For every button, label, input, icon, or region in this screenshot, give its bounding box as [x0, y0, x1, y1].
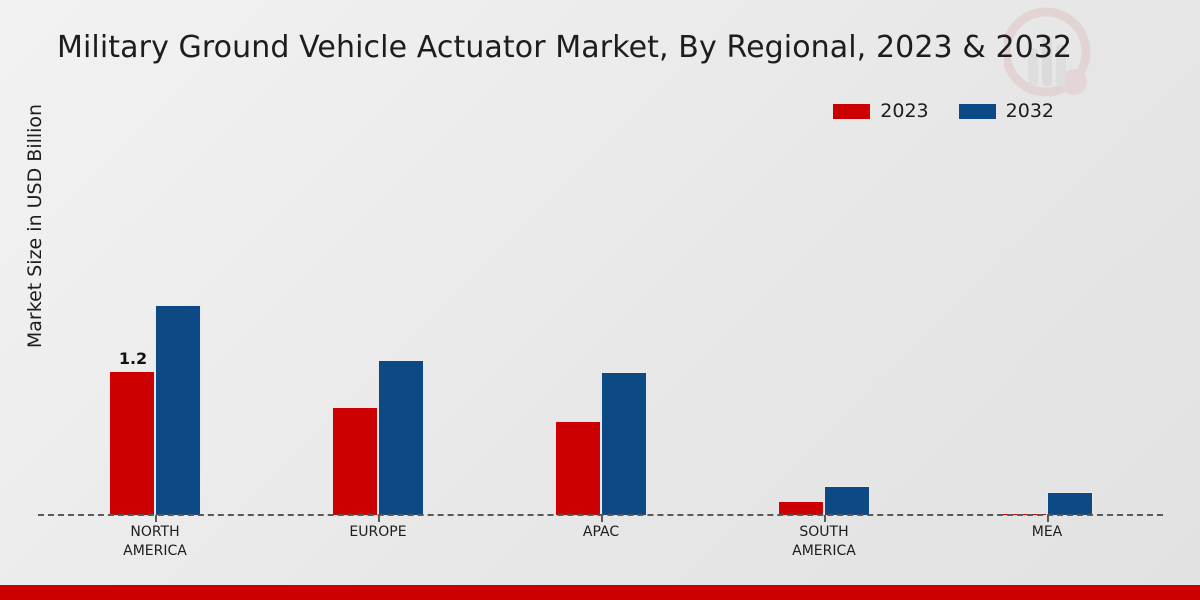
x-tick-apac: [601, 515, 603, 522]
x-label-north-america-line1: NORTH: [55, 523, 255, 542]
legend-label-2032: 2032: [1006, 102, 1054, 121]
legend-item-2023[interactable]: 2023: [833, 102, 928, 121]
bar-north-america-2023[interactable]: 1.2: [109, 371, 155, 515]
x-label-europe: EUROPE: [278, 523, 478, 542]
bar-apac-2032[interactable]: [601, 372, 647, 515]
bar-group-europe: [332, 140, 428, 515]
x-label-mea: MEA: [947, 523, 1147, 542]
bar-group-north-america: 1.2: [109, 140, 205, 515]
bar-group-south-america: [778, 140, 874, 515]
legend-label-2023: 2023: [880, 102, 928, 121]
bar-group-apac: [555, 140, 651, 515]
x-label-mea-line1: MEA: [947, 523, 1147, 542]
legend-swatch-2032: [959, 104, 996, 119]
bar-mea-2032[interactable]: [1047, 492, 1093, 515]
x-label-europe-line1: EUROPE: [278, 523, 478, 542]
bottom-accent-stripe: [0, 585, 1200, 600]
bar-north-america-2032[interactable]: [155, 305, 201, 515]
x-label-north-america-line2: AMERICA: [55, 542, 255, 561]
chart-legend: 2023 2032: [833, 102, 1054, 121]
bar-europe-2032[interactable]: [378, 360, 424, 515]
bar-south-america-2032[interactable]: [824, 486, 870, 515]
bar-south-america-2023[interactable]: [778, 501, 824, 515]
x-label-apac-line1: APAC: [501, 523, 701, 542]
bar-value-north-america-2023: 1.2: [110, 349, 156, 368]
bar-group-mea: [1001, 140, 1097, 515]
x-tick-mea: [1047, 515, 1049, 522]
x-label-apac: APAC: [501, 523, 701, 542]
x-label-south-america-line2: AMERICA: [724, 542, 924, 561]
chart-title: Military Ground Vehicle Actuator Market,…: [57, 30, 1072, 65]
x-tick-europe: [378, 515, 380, 522]
x-tick-north-america: [155, 515, 157, 522]
plot-area: 1.2: [38, 140, 1163, 515]
x-label-south-america: SOUTH AMERICA: [724, 523, 924, 561]
legend-item-2032[interactable]: 2032: [959, 102, 1054, 121]
x-tick-south-america: [824, 515, 826, 522]
bar-apac-2023[interactable]: [555, 421, 601, 515]
chart-page: Military Ground Vehicle Actuator Market,…: [0, 0, 1200, 600]
legend-swatch-2023: [833, 104, 870, 119]
bar-europe-2023[interactable]: [332, 407, 378, 515]
x-label-south-america-line1: SOUTH: [724, 523, 924, 542]
x-label-north-america: NORTH AMERICA: [55, 523, 255, 561]
